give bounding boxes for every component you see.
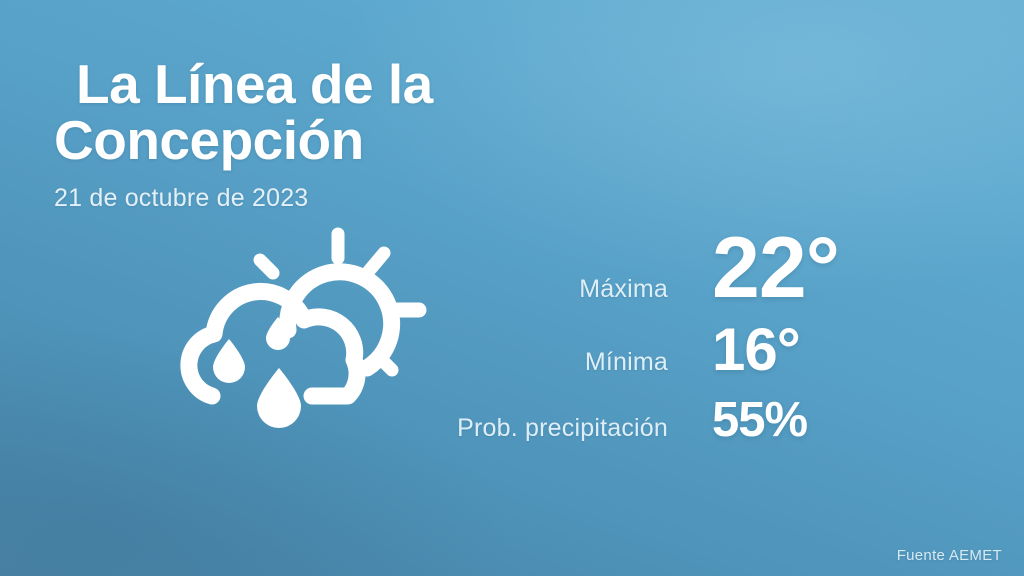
weather-stats: Máxima 22° Mínima 16° Prob. precipitació… (400, 228, 970, 445)
maxima-label: Máxima (400, 275, 712, 304)
raindrops (213, 317, 301, 428)
stat-row-minima: Mínima 16° (400, 320, 970, 380)
date-label: 21 de octubre de 2023 (54, 184, 654, 213)
stat-row-maxima: Máxima 22° (400, 228, 970, 310)
raindrop-left (213, 339, 245, 383)
precipitacion-label: Prob. precipitación (400, 414, 712, 443)
minima-value: 16° (712, 320, 800, 380)
raindrop-bottom (257, 368, 301, 428)
source-attribution: Fuente AEMET (897, 547, 1002, 564)
minima-label: Mínima (400, 348, 712, 377)
stat-row-precipitacion: Prob. precipitación 55% (400, 396, 970, 445)
sun-ray-upper-left (260, 260, 273, 273)
weather-header: La Línea de la Concepción 21 de octubre … (54, 56, 654, 213)
precipitacion-value: 55% (712, 396, 807, 445)
sun-behind-rain-cloud-icon (152, 218, 442, 448)
page-title: La Línea de la Concepción (54, 56, 654, 168)
sun-ray-upper-right (368, 253, 384, 272)
maxima-value: 22° (712, 228, 839, 310)
weather-card: La Línea de la Concepción 21 de octubre … (0, 0, 1024, 576)
